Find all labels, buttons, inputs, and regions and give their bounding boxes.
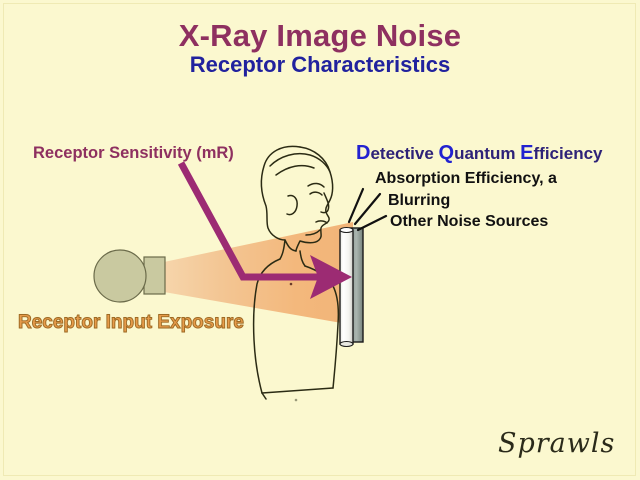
x-ray-tube (94, 250, 146, 302)
receptor-input-exposure-label: Receptor Input Exposure (18, 312, 244, 334)
receptor-bottom-cap (340, 342, 353, 347)
mark-dot-upper (290, 283, 293, 286)
dqe-cap-q: Q (439, 142, 455, 164)
receptor-leader-lines (349, 189, 386, 230)
author-signature: Sprawls (498, 428, 615, 459)
dqe-cap-e: E (520, 142, 533, 164)
dqe-item-absorption-efficiency: Absorption Efficiency, a (375, 170, 557, 188)
dqe-item-other-noise-sources: Other Noise Sources (390, 213, 548, 231)
receptor-top-cap (340, 228, 353, 233)
page-title: X-Ray Image Noise (0, 18, 640, 54)
leader-line-3 (358, 216, 386, 230)
page-subtitle: Receptor Characteristics (0, 52, 640, 78)
collimator (144, 257, 165, 294)
slide-canvas: X-Ray Image Noise Receptor Characteristi… (0, 0, 640, 480)
dqe-heading: Detective Quantum Efficiency (356, 142, 603, 165)
receptor-sensitivity-label: Receptor Sensitivity (mR) (33, 144, 234, 163)
mark-dot-lower (295, 399, 298, 402)
dqe-item-blurring: Blurring (388, 192, 450, 210)
dqe-rest-efficiency: fficiency (534, 144, 603, 163)
dqe-rest-detective: etective (370, 144, 438, 163)
dqe-cap-d: D (356, 142, 370, 164)
receptor-front-layer (340, 230, 353, 344)
dqe-rest-quantum: uantum (454, 144, 520, 163)
